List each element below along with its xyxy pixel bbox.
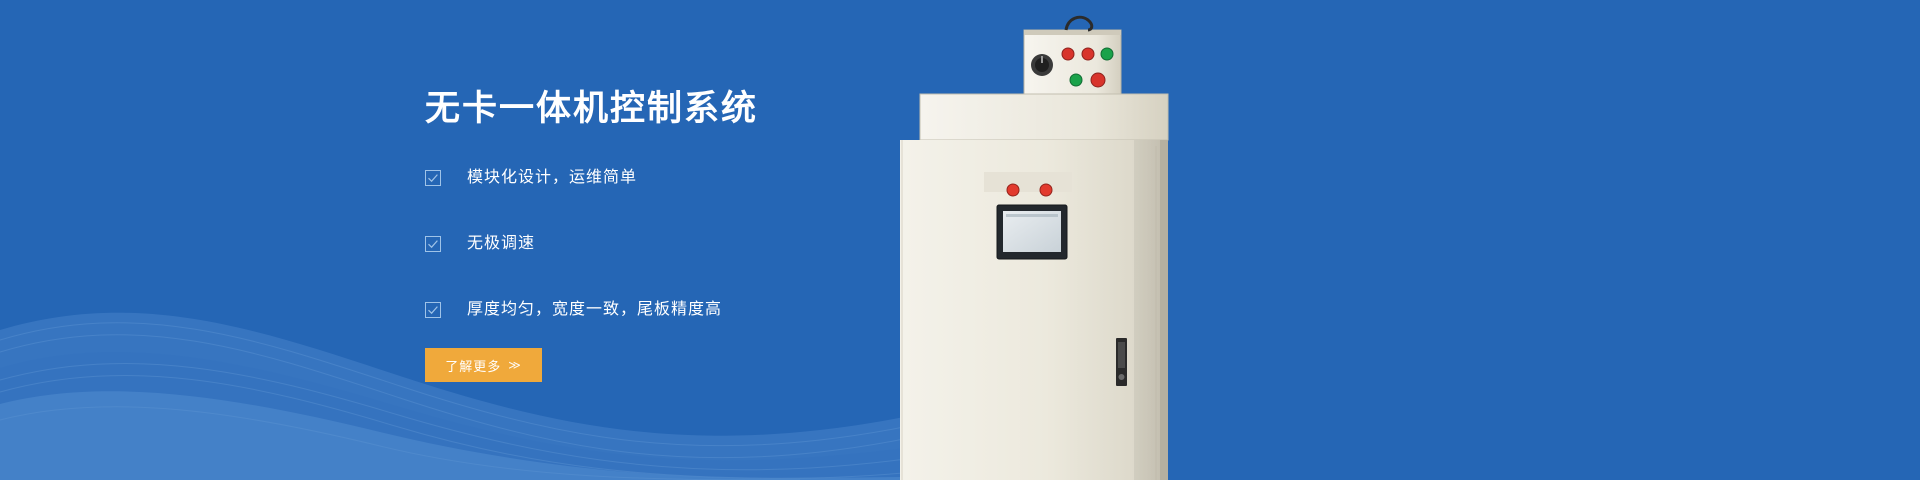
feature-spacer-1	[425, 194, 945, 227]
learn-more-label: 了解更多	[445, 356, 501, 375]
chevron-right-icon: ≫	[508, 358, 522, 372]
control-cabinet-photo	[898, 0, 1198, 480]
checkbox-check-icon	[425, 302, 441, 318]
hero-content: 无卡一体机控制系统 模块化设计，运维简单 无极调速	[425, 88, 945, 382]
learn-more-button[interactable]: 了解更多 ≫	[425, 348, 542, 382]
feature-item-1: 模块化设计，运维简单	[425, 161, 945, 194]
cta-container: 了解更多 ≫	[425, 348, 945, 382]
feature-label: 厚度均匀，宽度一致，尾板精度高	[467, 302, 722, 318]
feature-item-3: 厚度均匀，宽度一致，尾板精度高	[425, 293, 945, 326]
feature-label: 模块化设计，运维简单	[467, 170, 637, 186]
checkbox-check-icon	[425, 236, 441, 252]
feature-list: 模块化设计，运维简单 无极调速 厚度均匀，宽度一致，尾板精度高	[425, 161, 945, 326]
feature-label: 无极调速	[467, 236, 535, 252]
hero-banner: 无卡一体机控制系统 模块化设计，运维简单 无极调速	[0, 0, 1920, 480]
feature-spacer-2	[425, 260, 945, 293]
checkbox-check-icon	[425, 170, 441, 186]
page-title: 无卡一体机控制系统	[425, 88, 945, 130]
feature-item-2: 无极调速	[425, 227, 945, 260]
